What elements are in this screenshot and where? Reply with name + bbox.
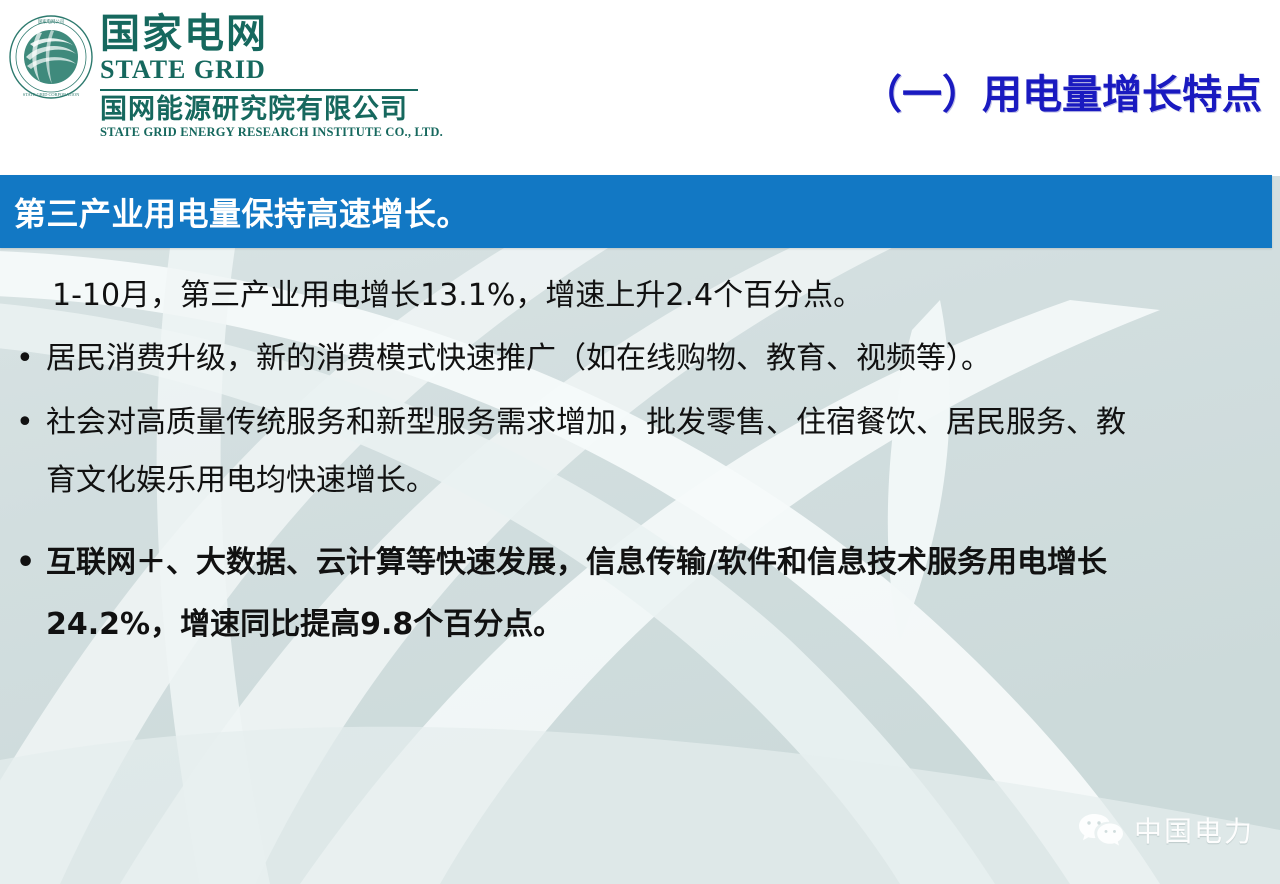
list-item-line: 24.2%，增速同比提高9.8个百分点。 bbox=[46, 594, 1250, 656]
slide: 国家电网公司 STATE GRID CORPORATION 国家电网 STATE… bbox=[0, 0, 1280, 884]
list-item-line: 居民消费升级，新的消费模式快速推广（如在线购物、教育、视频等）。 bbox=[46, 330, 1250, 388]
list-item-line: 育文化娱乐用电均快速增长。 bbox=[46, 452, 1250, 510]
logo-institute-en: STATE GRID ENERGY RESEARCH INSTITUTE CO.… bbox=[100, 125, 443, 140]
bullet-marker: • bbox=[16, 330, 34, 388]
svg-text:国家电网公司: 国家电网公司 bbox=[38, 18, 64, 25]
wechat-icon bbox=[1078, 812, 1124, 848]
list-item-line: 互联网＋、大数据、云计算等快速发展，信息传输/软件和信息技术服务用电增长 bbox=[46, 532, 1250, 594]
list-item-line: 社会对高质量传统服务和新型服务需求增加，批发零售、住宿餐饮、居民服务、教 bbox=[46, 394, 1250, 452]
state-grid-globe-emblem-icon: 国家电网公司 STATE GRID CORPORATION bbox=[8, 14, 94, 100]
state-grid-logo: 国家电网公司 STATE GRID CORPORATION 国家电网 STATE… bbox=[8, 12, 443, 140]
list-item: • 居民消费升级，新的消费模式快速推广（如在线购物、教育、视频等）。 bbox=[0, 330, 1280, 388]
section-banner: 第三产业用电量保持高速增长。 bbox=[0, 175, 1272, 248]
list-item: • 互联网＋、大数据、云计算等快速发展，信息传输/软件和信息技术服务用电增长 2… bbox=[0, 532, 1280, 656]
bullet-marker: • bbox=[16, 394, 34, 452]
logo-company-en: STATE GRID bbox=[100, 56, 443, 84]
section-banner-label: 第三产业用电量保持高速增长。 bbox=[14, 189, 469, 235]
lead-paragraph: 1-10月，第三产业用电增长13.1%，增速上升2.4个百分点。 bbox=[0, 272, 1280, 320]
logo-institute-cn: 国网能源研究院有限公司 bbox=[100, 95, 443, 125]
page-title: （一）用电量增长特点 bbox=[862, 62, 1262, 120]
wechat-watermark: 中国电力 bbox=[1078, 810, 1254, 850]
logo-divider bbox=[100, 89, 418, 91]
content-area: 1-10月，第三产业用电增长13.1%，增速上升2.4个百分点。 • 居民消费升… bbox=[0, 272, 1280, 662]
list-item: • 社会对高质量传统服务和新型服务需求增加，批发零售、住宿餐饮、居民服务、教 育… bbox=[0, 394, 1280, 510]
wechat-label: 中国电力 bbox=[1134, 810, 1254, 850]
svg-text:STATE GRID CORPORATION: STATE GRID CORPORATION bbox=[23, 92, 80, 97]
bullet-marker: • bbox=[16, 532, 35, 594]
logo-company-cn: 国家电网 bbox=[100, 12, 443, 56]
